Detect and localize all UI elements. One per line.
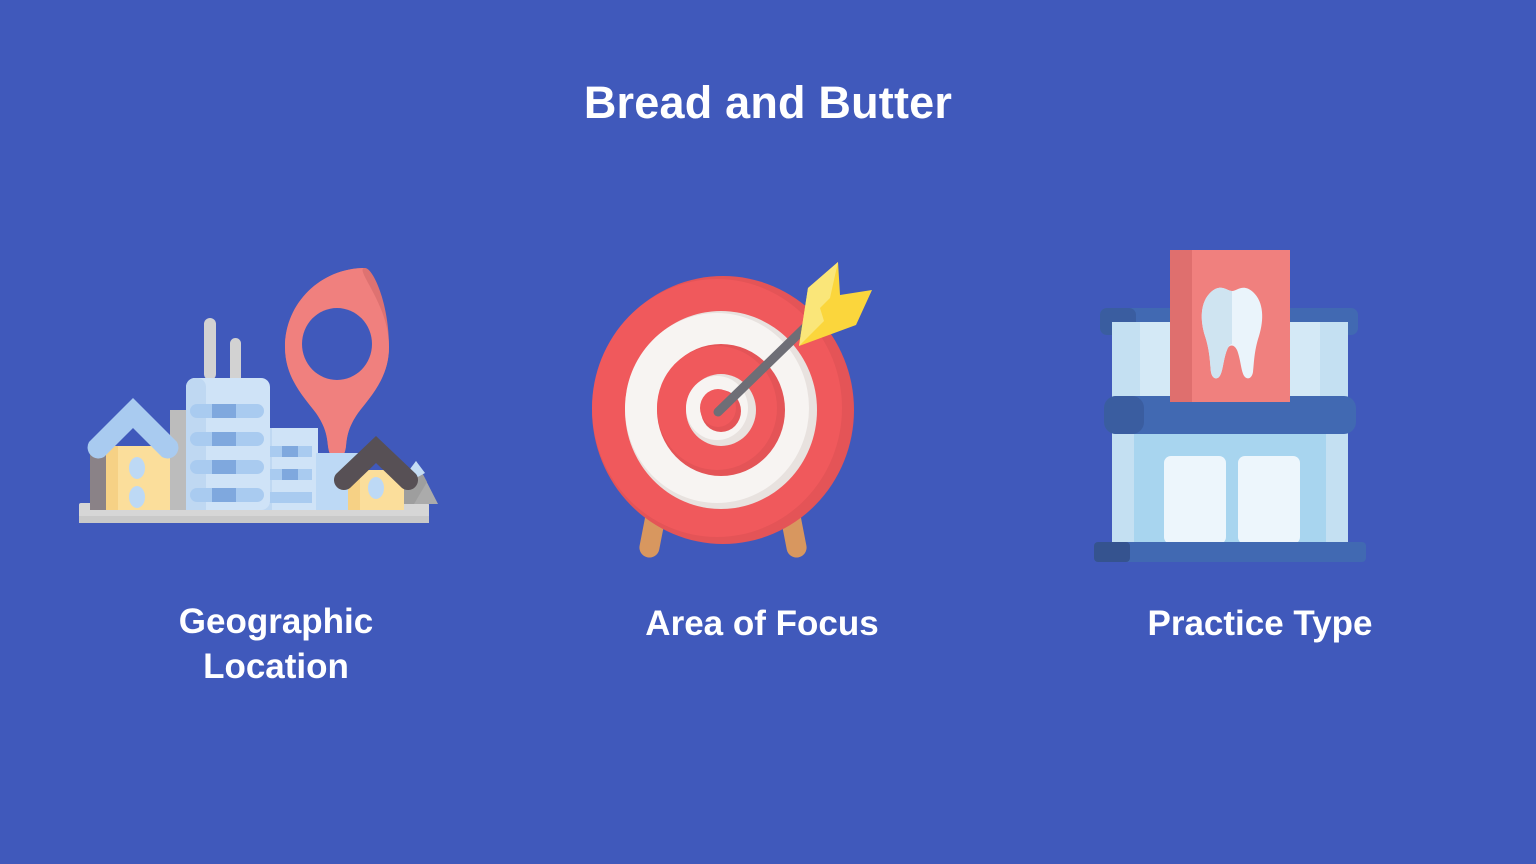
tower-main [186, 378, 270, 510]
dental-clinic-building-icon [1060, 250, 1460, 580]
antenna-tall [204, 318, 216, 380]
feature-label-practice-type: Practice Type [1147, 602, 1372, 647]
antenna-short [230, 338, 241, 383]
house-left [88, 398, 179, 510]
feature-label-geographic-location: Geographic Location [179, 600, 373, 690]
feature-column-area-of-focus: Area of Focus [532, 250, 992, 647]
clinic-entrance [1134, 434, 1326, 544]
feature-column-practice-type: Practice Type [1030, 250, 1490, 647]
clinic-sign-board [1170, 250, 1290, 402]
page-title: Bread and Butter [0, 78, 1536, 128]
feature-column-geographic-location: Geographic Location [46, 250, 506, 690]
feature-label-area-of-focus: Area of Focus [645, 602, 878, 647]
arrow-fletching [799, 262, 872, 346]
target-bullseye-with-arrow-icon [562, 250, 962, 580]
slide-root: Bread and Butter [0, 0, 1536, 864]
city-skyline-with-map-pin-icon [76, 250, 476, 580]
feature-columns: Geographic Location [0, 250, 1536, 770]
clinic-base [1094, 542, 1366, 562]
